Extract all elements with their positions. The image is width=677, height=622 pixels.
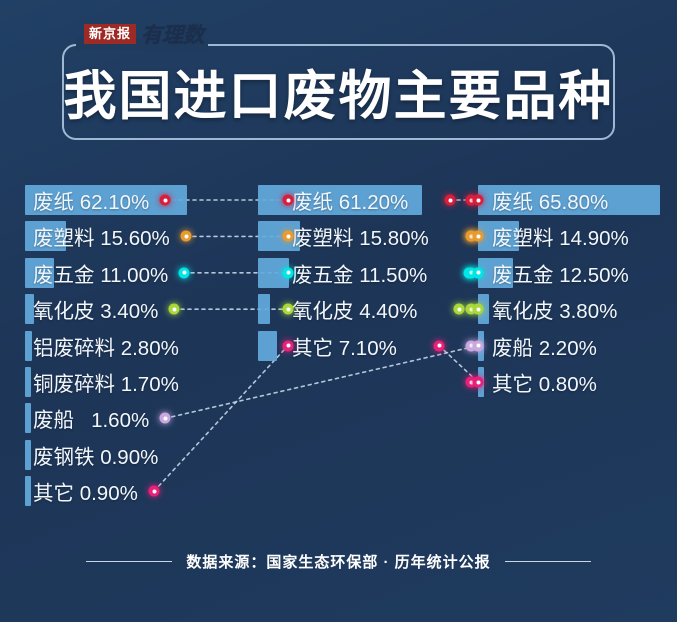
data-source-text: 数据来源：国家生态环保部 · 历年统计公报 (186, 551, 490, 572)
chart-row: 其它 0.90% (25, 473, 205, 509)
series-dot-废塑料 (181, 231, 192, 242)
series-dot-氧化皮 (454, 304, 465, 315)
row-label-value: 废纸 62.10% (25, 182, 149, 218)
row-label-value: 铝废碎料 2.80% (25, 328, 179, 364)
chart-row: 其它 0.80% (478, 364, 668, 400)
series-dot-其它 (434, 340, 445, 351)
chart-row: 废钢铁 0.90% (25, 437, 205, 473)
chart-row: 铝废碎料 2.80% (25, 328, 205, 364)
footer: 数据来源：国家生态环保部 · 历年统计公报 (0, 548, 677, 574)
column-year-2: 废纸 61.20%废塑料 15.80%废五金 11.50%氧化皮 4.40%其它… (258, 172, 443, 532)
series-dot-in-其它 (283, 340, 294, 351)
row-label-value: 废纸 61.20% (258, 182, 408, 218)
series-dot-in-氧化皮 (283, 304, 294, 315)
row-label-value: 废船 2.20% (478, 328, 597, 364)
chart-row: 废船 1.60% (25, 400, 205, 436)
row-label-value: 废塑料 15.60% (25, 218, 170, 254)
series-dot-in-废塑料 (283, 231, 294, 242)
chart-row: 氧化皮 3.80% (478, 291, 668, 327)
column-year-1: 废纸 62.10%废塑料 15.60%废五金 11.00%氧化皮 3.40%铝废… (25, 172, 205, 532)
series-dot-in-废船 (473, 340, 484, 351)
row-label-value: 其它 7.10% (258, 328, 397, 364)
chart-row: 废五金 12.50% (478, 255, 668, 291)
series-dot-in-废五金 (283, 267, 294, 278)
brand-logo: 新京报 有理数 (84, 22, 204, 46)
series-dot-in-其它 (473, 377, 484, 388)
row-label-value: 废纸 65.80% (478, 182, 608, 218)
chart-row: 废船 2.20% (478, 328, 668, 364)
footer-rule-right (505, 561, 591, 562)
row-label-value: 废五金 11.00% (25, 255, 168, 291)
row-label-value: 氧化皮 3.80% (478, 291, 617, 327)
row-label-value: 废五金 12.50% (478, 255, 629, 291)
series-dot-废船 (160, 413, 171, 424)
row-label-value: 废钢铁 0.90% (25, 437, 158, 473)
row-label-value: 废塑料 14.90% (478, 218, 629, 254)
brand-badge: 新京报 (84, 24, 136, 44)
series-dot-废纸 (160, 195, 171, 206)
chart-row: 废塑料 15.60% (25, 218, 205, 254)
row-label-value: 铜废碎料 1.70% (25, 364, 179, 400)
column-year-3: 废纸 65.80%废塑料 14.90%废五金 12.50%氧化皮 3.80%废船… (478, 172, 668, 532)
chart-row: 废纸 65.80% (478, 182, 668, 218)
series-dot-废纸 (445, 195, 456, 206)
footer-rule-left (86, 561, 172, 562)
chart-row: 铜废碎料 1.70% (25, 364, 205, 400)
row-label-value: 氧化皮 3.40% (25, 291, 158, 327)
series-dot-in-废纸 (283, 195, 294, 206)
infographic-canvas: 新京报 有理数 我国进口废物主要品种 废纸 62.10%废塑料 15.60%废五… (0, 0, 677, 622)
series-dot-废五金 (179, 267, 190, 278)
chart-row: 废纸 62.10% (25, 182, 205, 218)
row-label-value: 其它 0.90% (25, 473, 138, 509)
row-label-value: 其它 0.80% (478, 364, 597, 400)
series-dot-in-废塑料 (473, 231, 484, 242)
series-dot-in-氧化皮 (473, 304, 484, 315)
row-label-value: 废船 1.60% (25, 400, 149, 436)
series-dot-氧化皮 (169, 304, 180, 315)
series-dot-in-废纸 (473, 195, 484, 206)
chart-area: 废纸 62.10%废塑料 15.60%废五金 11.00%氧化皮 3.40%铝废… (0, 172, 677, 532)
series-dot-in-废五金 (473, 267, 484, 278)
chart-row: 废塑料 14.90% (478, 218, 668, 254)
series-dot-其它 (149, 486, 160, 497)
page-title: 我国进口废物主要品种 (62, 44, 615, 140)
